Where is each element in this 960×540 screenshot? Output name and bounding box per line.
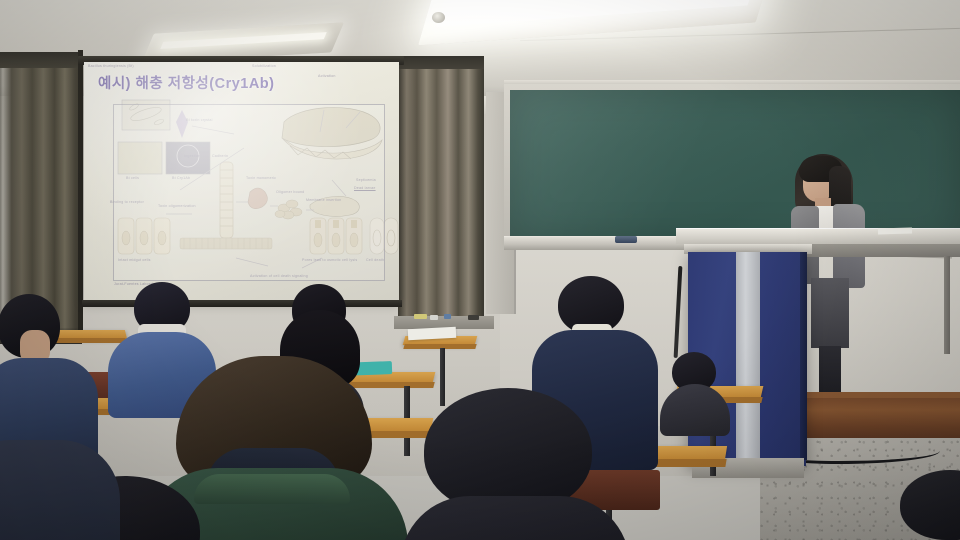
desk-leg <box>944 256 950 354</box>
lecture-hall-photo: Bacillus thuringiensis (Bt) Bt toxin cry… <box>0 0 960 540</box>
torso <box>0 440 120 540</box>
presenter-legs <box>819 346 841 396</box>
lectern-stripe <box>736 252 760 458</box>
eraser[interactable] <box>615 236 637 243</box>
presenter-skirt <box>811 278 849 348</box>
screen-glare <box>84 62 399 302</box>
chalkboard-sheen <box>510 90 960 242</box>
sprinkler-icon <box>432 12 445 23</box>
stage-platform-face <box>800 398 960 440</box>
sill-object <box>414 314 427 319</box>
collar <box>194 474 350 504</box>
lectern-edge <box>800 252 807 460</box>
head <box>900 470 960 540</box>
sill-object <box>430 315 438 320</box>
window-curtain-center <box>398 56 484 324</box>
student-back-right <box>660 352 730 432</box>
torso <box>400 496 630 540</box>
sill-object <box>444 314 451 319</box>
student-foreground <box>400 388 630 540</box>
teacher-desk-top <box>676 228 960 244</box>
student-front-left <box>0 430 200 540</box>
torso <box>660 384 730 436</box>
desk-papers <box>878 228 912 235</box>
student-far-right <box>900 470 960 540</box>
sill-object <box>468 315 479 320</box>
